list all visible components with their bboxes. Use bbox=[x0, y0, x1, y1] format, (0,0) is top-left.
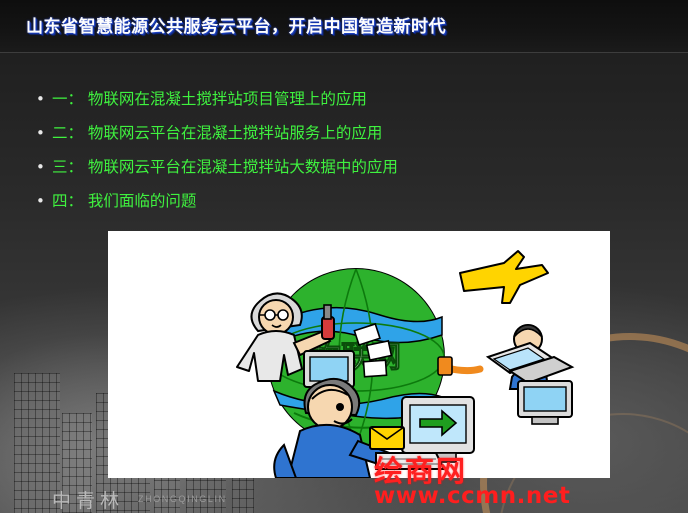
footer-logo-pinyin: ZHONGQINGLIN bbox=[138, 494, 227, 504]
list-item: • 一： 物联网在混凝土搅拌站项目管理上的应用 bbox=[36, 88, 656, 110]
illustration-svg: 物联网 bbox=[108, 231, 610, 478]
slide-title: 山东省智慧能源公共服务云平台，开启中国智造新时代 bbox=[26, 12, 446, 37]
bullet-list: • 一： 物联网在混凝土搅拌站项目管理上的应用 • 二： 物联网云平台在混凝土搅… bbox=[36, 88, 656, 224]
bullet-marker-icon: • bbox=[36, 88, 52, 110]
footer-logo-text: 中青林 bbox=[52, 486, 124, 513]
list-item: • 三： 物联网云平台在混凝土搅拌站大数据中的应用 bbox=[36, 156, 656, 178]
monitor-right bbox=[518, 381, 572, 424]
presentation-slide: 山东省智慧能源公共服务云平台，开启中国智造新时代 • 一： 物联网在混凝土搅拌站… bbox=[0, 0, 688, 513]
title-bar-divider bbox=[0, 52, 688, 53]
bullet-marker-icon: • bbox=[36, 122, 52, 144]
bullet-text: 四： 我们面临的问题 bbox=[52, 190, 196, 212]
list-item: • 二： 物联网云平台在混凝土搅拌站服务上的应用 bbox=[36, 122, 656, 144]
bullet-marker-icon: • bbox=[36, 190, 52, 212]
list-item: • 四： 我们面临的问题 bbox=[36, 190, 656, 212]
bullet-text: 二： 物联网云平台在混凝土搅拌站服务上的应用 bbox=[52, 122, 382, 144]
bullet-text: 一： 物联网在混凝土搅拌站项目管理上的应用 bbox=[52, 88, 367, 110]
watermark-url: www.ccmn.net bbox=[374, 483, 570, 509]
iot-globe-illustration: 物联网 bbox=[108, 231, 610, 478]
bullet-marker-icon: • bbox=[36, 156, 52, 178]
bullet-text: 三： 物联网云平台在混凝土搅拌站大数据中的应用 bbox=[52, 156, 398, 178]
